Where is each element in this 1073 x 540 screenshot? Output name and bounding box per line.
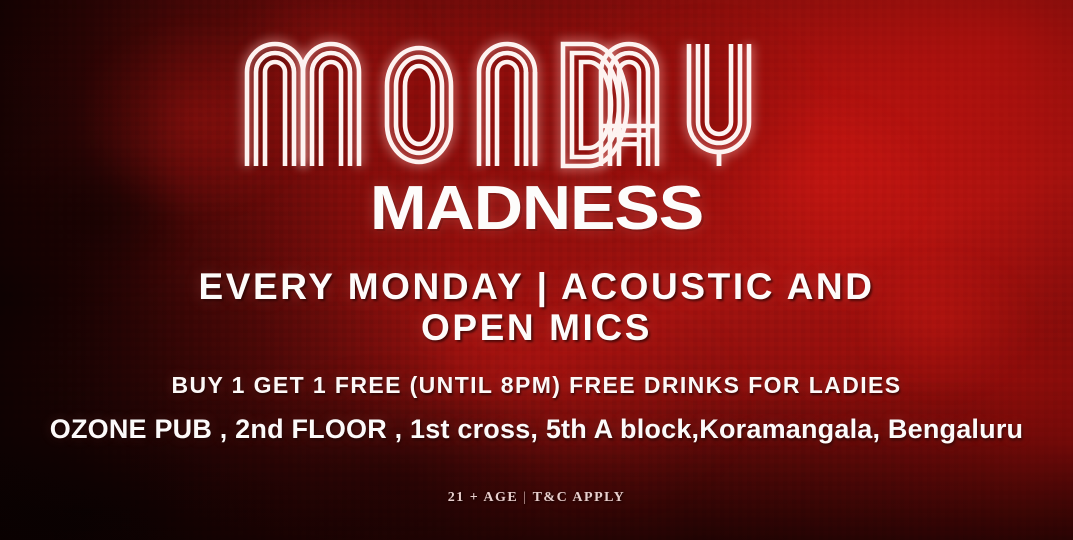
- footer-separator: |: [518, 490, 532, 505]
- headline-monday: MONDAY: [0, 14, 1073, 174]
- tagline-line-1: EVERY MONDAY | ACOUSTIC AND: [0, 266, 1073, 307]
- tagline-line-2: OPEN MICS: [0, 307, 1073, 348]
- tagline: EVERY MONDAY | ACOUSTIC AND OPEN MICS: [0, 266, 1073, 349]
- venue-address: OZONE PUB , 2nd FLOOR , 1st cross, 5th A…: [0, 414, 1073, 445]
- age-restriction: 21 + AGE: [448, 490, 519, 505]
- poster-content: MONDAY: [0, 0, 1073, 540]
- promo-poster: MONDAY: [0, 0, 1073, 540]
- subheadline-madness: MADNESS: [0, 178, 1073, 240]
- footer-terms: 21 + AGE|T&C APPLY: [0, 490, 1073, 506]
- offer-text: BUY 1 GET 1 FREE (UNTIL 8PM) FREE DRINKS…: [0, 372, 1073, 399]
- terms-and-conditions: T&C APPLY: [533, 490, 626, 505]
- headline-monday-artwork: MONDAY: [237, 14, 837, 172]
